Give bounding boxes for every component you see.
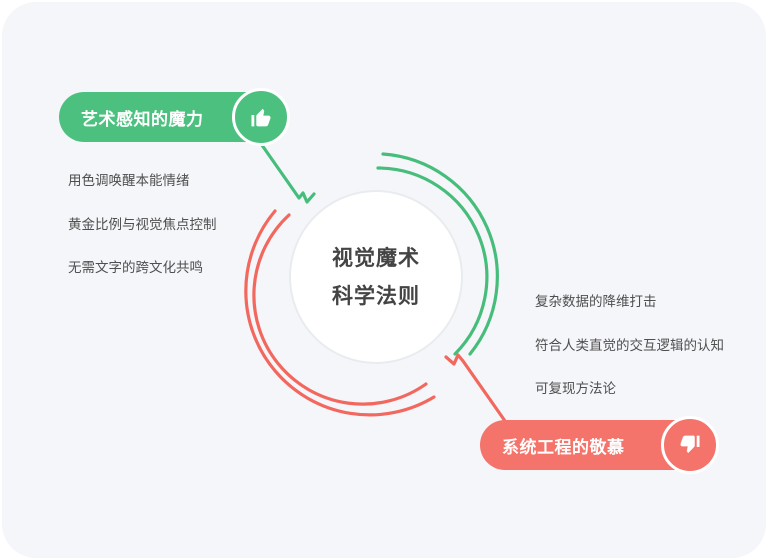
center-title: 视觉魔术 科学法则 — [290, 240, 462, 316]
red-connector-line — [446, 355, 505, 421]
list-item: 符合人类直觉的交互逻辑的认知 — [535, 339, 724, 353]
list-item: 可复现方法论 — [535, 382, 724, 396]
list-item: 黄金比例与视觉焦点控制 — [68, 218, 217, 232]
screenshot-root: 艺术感知的魔力 用色调唤醒本能情绪 黄金比例与视觉焦点控制 无需文字的跨文化共鸣… — [0, 0, 768, 560]
feature-list-right: 复杂数据的降维打击 符合人类直觉的交互逻辑的认知 可复现方法论 — [535, 295, 724, 426]
badge-bottom-label: 系统工程的敬慕 — [502, 433, 625, 458]
diagram-card: 艺术感知的魔力 用色调唤醒本能情绪 黄金比例与视觉焦点控制 无需文字的跨文化共鸣… — [2, 2, 766, 558]
badge-system-engineering[interactable]: 系统工程的敬慕 — [480, 420, 718, 470]
badge-art-perception[interactable]: 艺术感知的魔力 — [59, 92, 289, 142]
feature-list-left: 用色调唤醒本能情绪 黄金比例与视觉焦点控制 无需文字的跨文化共鸣 — [68, 174, 217, 305]
center-title-line2: 科学法则 — [290, 278, 462, 316]
center-title-line1: 视觉魔术 — [290, 240, 462, 278]
thumbs-up-icon[interactable] — [232, 88, 290, 146]
list-item: 用色调唤醒本能情绪 — [68, 174, 217, 188]
thumbs-down-icon[interactable] — [661, 416, 719, 474]
list-item: 无需文字的跨文化共鸣 — [68, 261, 217, 275]
green-connector-line — [257, 138, 314, 202]
badge-top-label: 艺术感知的魔力 — [81, 105, 204, 130]
list-item: 复杂数据的降维打击 — [535, 295, 724, 309]
